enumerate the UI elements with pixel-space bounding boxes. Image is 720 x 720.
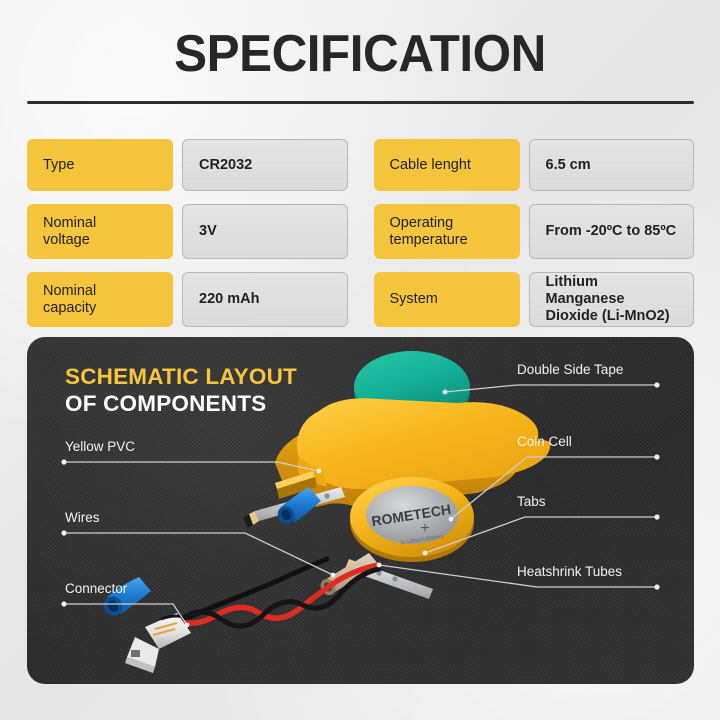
infographic-root: SPECIFICATION Type CR2032 Nominal voltag… — [0, 0, 720, 720]
spec-label-line2: voltage — [43, 232, 90, 248]
spec-label-line1: Operating — [390, 215, 454, 231]
callout-connector: Connector — [65, 581, 127, 596]
spec-label-line1: Nominal — [43, 215, 96, 231]
spec-label-type: Type — [27, 139, 173, 191]
spec-label-line1: Nominal — [43, 283, 96, 299]
spec-row-nominal-voltage: Nominal voltage 3V — [27, 204, 348, 259]
specification-table: Type CR2032 Nominal voltage 3V Nominal c… — [27, 139, 694, 327]
spec-label-line2: capacity — [43, 300, 96, 316]
spec-row-nominal-capacity: Nominal capacity 220 mAh — [27, 272, 348, 327]
callout-coin-cell: Coin Cell — [517, 434, 572, 449]
callout-heatshrink-tubes: Heatshrink Tubes — [517, 564, 622, 579]
spec-value-system: Lithium Manganese Dioxide (Li-MnO2) — [529, 272, 695, 327]
spec-row-operating-temperature: Operating temperature From -20ºC to 85ºC — [374, 204, 695, 259]
spec-label-nominal-voltage: Nominal voltage — [27, 204, 173, 259]
callout-double-side-tape: Double Side Tape — [517, 362, 623, 377]
spec-value-type: CR2032 — [182, 139, 348, 191]
spec-value-line1: Lithium Manganese — [546, 274, 625, 307]
schematic-heading: SCHEMATIC LAYOUT OF COMPONENTS — [65, 363, 297, 417]
schematic-heading-line1: SCHEMATIC LAYOUT — [65, 363, 297, 390]
callout-yellow-pvc: Yellow PVC — [65, 439, 135, 454]
spec-label-cable-length: Cable lenght — [374, 139, 520, 191]
spec-column-left: Type CR2032 Nominal voltage 3V Nominal c… — [27, 139, 348, 327]
spec-value-nominal-capacity: 220 mAh — [182, 272, 348, 327]
spec-value-nominal-voltage: 3V — [182, 204, 348, 259]
spec-label-nominal-capacity: Nominal capacity — [27, 272, 173, 327]
spec-value-cable-length: 6.5 cm — [529, 139, 695, 191]
schematic-heading-line2: OF COMPONENTS — [65, 390, 297, 417]
spec-row-cable-length: Cable lenght 6.5 cm — [374, 139, 695, 191]
spec-value-operating-temperature: From -20ºC to 85ºC — [529, 204, 695, 259]
schematic-panel: SCHEMATIC LAYOUT OF COMPONENTS — [27, 337, 694, 684]
callout-wires: Wires — [65, 510, 100, 525]
spec-label-system: System — [374, 272, 520, 327]
spec-row-system: System Lithium Manganese Dioxide (Li-MnO… — [374, 272, 695, 327]
page-title: SPECIFICATION — [18, 26, 702, 82]
callout-tabs: Tabs — [517, 494, 546, 509]
spec-column-right: Cable lenght 6.5 cm Operating temperatur… — [374, 139, 695, 327]
spec-value-line2: Dioxide (Li-MnO2) — [546, 308, 670, 324]
title-divider — [27, 101, 694, 104]
spec-row-type: Type CR2032 — [27, 139, 348, 191]
spec-label-line2: temperature — [390, 232, 468, 248]
spec-label-operating-temperature: Operating temperature — [374, 204, 520, 259]
